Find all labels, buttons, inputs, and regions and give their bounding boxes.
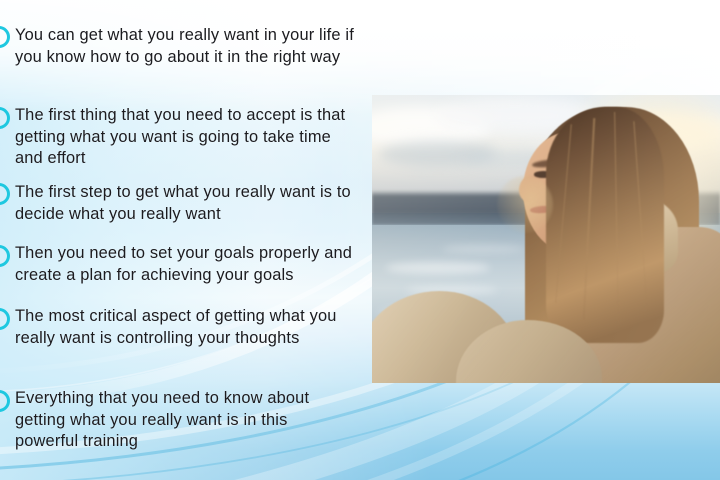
bullet-text: The first thing that you need to accept … xyxy=(15,105,355,170)
bullet-text: Everything that you need to know about g… xyxy=(15,388,355,453)
bullet-text: You can get what you really want in your… xyxy=(15,25,355,68)
bullet-text: The most critical aspect of getting what… xyxy=(15,306,355,349)
cyan-ring-bullet-icon xyxy=(0,308,10,330)
photo-warm-overlay xyxy=(372,95,720,383)
bullet-list: You can get what you really want in your… xyxy=(0,0,362,480)
cyan-ring-bullet-icon xyxy=(0,245,10,267)
cyan-ring-bullet-icon xyxy=(0,26,10,48)
bullet-text: The first step to get what you really wa… xyxy=(15,182,355,225)
slide-canvas: You can get what you really want in your… xyxy=(0,0,720,480)
woman-by-waterfront-photo xyxy=(372,95,720,383)
cyan-ring-bullet-icon xyxy=(0,183,10,205)
bullet-text: Then you need to set your goals properly… xyxy=(15,243,355,286)
cyan-ring-bullet-icon xyxy=(0,390,10,412)
cyan-ring-bullet-icon xyxy=(0,107,10,129)
